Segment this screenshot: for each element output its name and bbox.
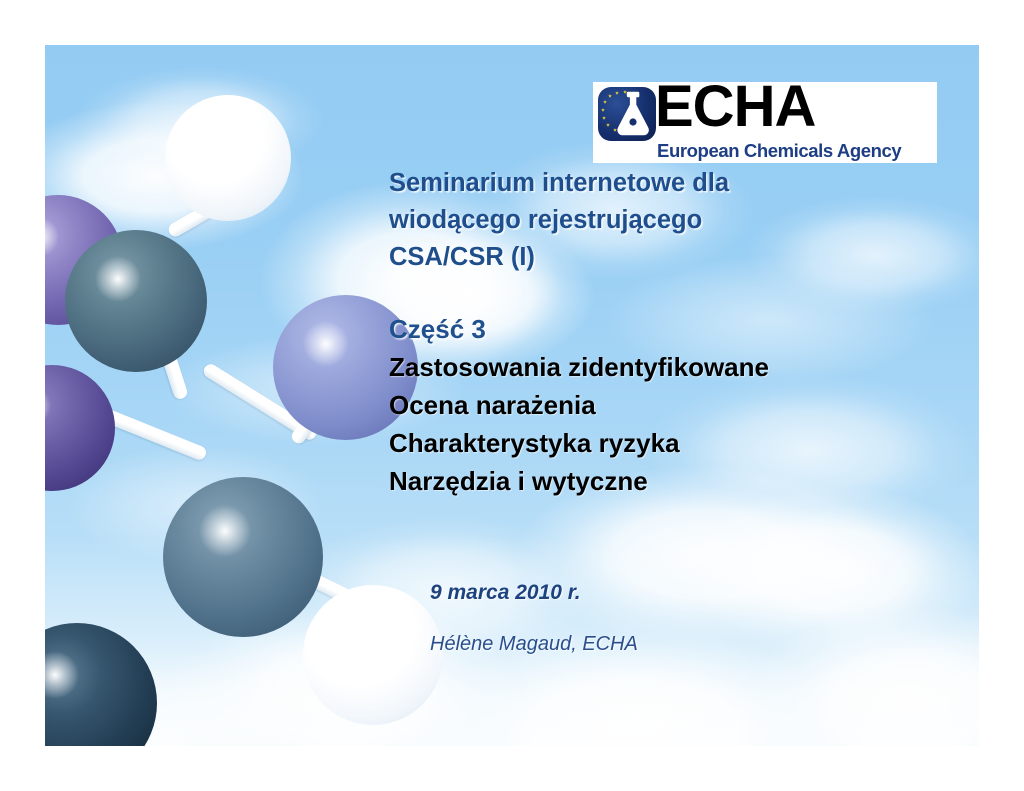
title-line-3: CSA/CSR (I) <box>389 239 949 276</box>
part-line-4: Narzędzia i wytyczne <box>389 462 949 500</box>
slide-page: ECHA European Chemicals Agency Seminariu… <box>0 0 1024 791</box>
echa-eu-flask-emblem-icon <box>598 87 656 141</box>
molecule-model-illustration <box>45 45 405 746</box>
title-line-2: wiodącego rejestrującego <box>389 202 949 239</box>
slide-subtitle-block: Część 3 Zastosowania zidentyfikowane Oce… <box>389 310 949 500</box>
presenter-name: Hélène Magaud, ECHA <box>430 633 950 656</box>
part-line-2: Ocena narażenia <box>389 386 949 424</box>
part-line-3: Charakterystyka ryzyka <box>389 424 949 462</box>
flask-icon <box>612 91 654 138</box>
slide-meta: 9 marca 2010 r. Hélène Magaud, ECHA <box>430 581 950 656</box>
part-line-1: Zastosowania zidentyfikowane <box>389 348 949 386</box>
atom-steel-center <box>163 477 323 637</box>
slide-title: Seminarium internetowe dla wiodącego rej… <box>389 165 949 276</box>
atom-white-top <box>165 95 291 221</box>
atom-slate-upper <box>65 230 207 372</box>
part-number: Część 3 <box>389 310 949 348</box>
atom-purple-lower <box>45 365 115 491</box>
atom-white-lower <box>303 585 443 725</box>
echa-logo-subtitle: European Chemicals Agency <box>657 140 901 162</box>
presentation-date: 9 marca 2010 r. <box>430 581 950 605</box>
echa-logo: ECHA European Chemicals Agency <box>593 82 937 163</box>
title-line-1: Seminarium internetowe dla <box>389 165 949 202</box>
echa-wordmark: ECHA <box>655 78 815 136</box>
atom-navy-lower <box>45 623 157 746</box>
title-slide: ECHA European Chemicals Agency Seminariu… <box>45 45 979 746</box>
